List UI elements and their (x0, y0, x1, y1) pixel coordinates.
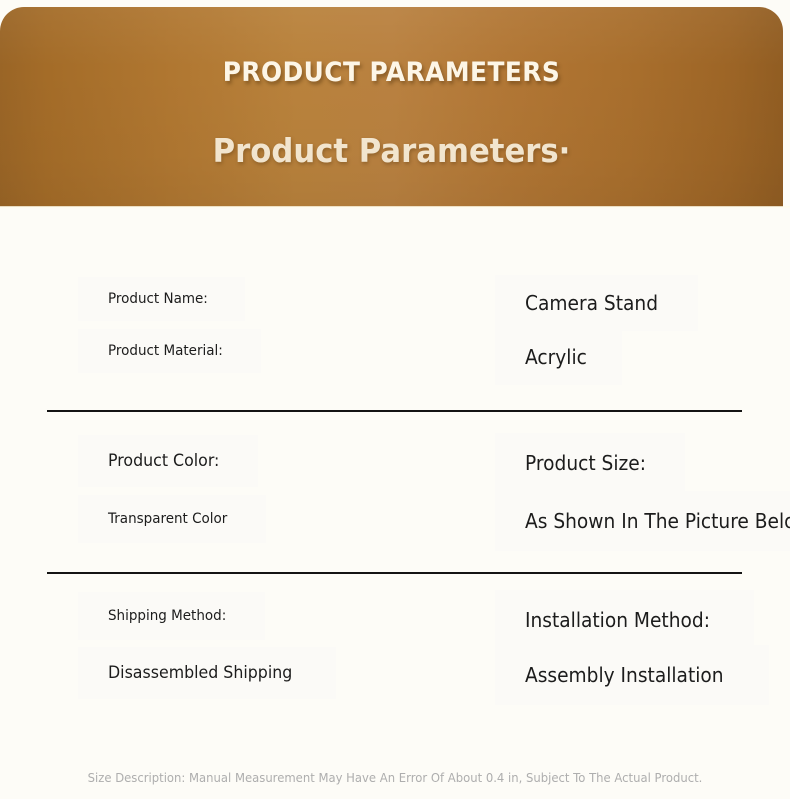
param-label-product-color: Product Color: (78, 435, 258, 487)
banner-bottom-edge (0, 206, 790, 209)
param-value-text: Camera Stand (525, 291, 658, 315)
param-label-product-name: Product Name: (78, 277, 245, 321)
section-divider-2 (47, 572, 742, 574)
param-value-product-material: Acrylic (495, 329, 622, 385)
param-label-text: Product Size: (525, 451, 646, 475)
param-value-product-color: Transparent Color (78, 495, 266, 543)
page-subtitle: Product Parameters· (27, 131, 755, 170)
param-label-product-size: Product Size: (495, 433, 685, 493)
param-label-shipping-method: Shipping Method: (78, 592, 265, 640)
section-divider-1 (47, 410, 742, 412)
param-value-text: Assembly Installation (525, 663, 724, 687)
param-label-text: Installation Method: (525, 608, 710, 632)
param-value-shipping-method: Disassembled Shipping (78, 647, 336, 699)
param-label-product-material: Product Material: (78, 329, 261, 373)
param-label-installation-method: Installation Method: (495, 590, 754, 650)
param-label-text: Shipping Method: (108, 608, 226, 624)
size-description-note: Size Description: Manual Measurement May… (28, 770, 763, 785)
param-value-installation-method: Assembly Installation (495, 645, 769, 705)
param-value-text: Transparent Color (108, 511, 227, 527)
param-value-text: Acrylic (525, 345, 587, 369)
param-label-text: Product Name: (108, 291, 208, 307)
page-title: PRODUCT PARAMETERS (31, 57, 751, 88)
param-label-text: Product Material: (108, 343, 223, 359)
param-value-product-size: As Shown In The Picture Below (495, 491, 790, 551)
header-banner: PRODUCT PARAMETERS Product Parameters· (0, 7, 783, 207)
param-value-text: Disassembled Shipping (108, 663, 292, 683)
param-value-product-name: Camera Stand (495, 275, 698, 331)
param-value-text: As Shown In The Picture Below (525, 509, 790, 533)
param-label-text: Product Color: (108, 451, 219, 471)
